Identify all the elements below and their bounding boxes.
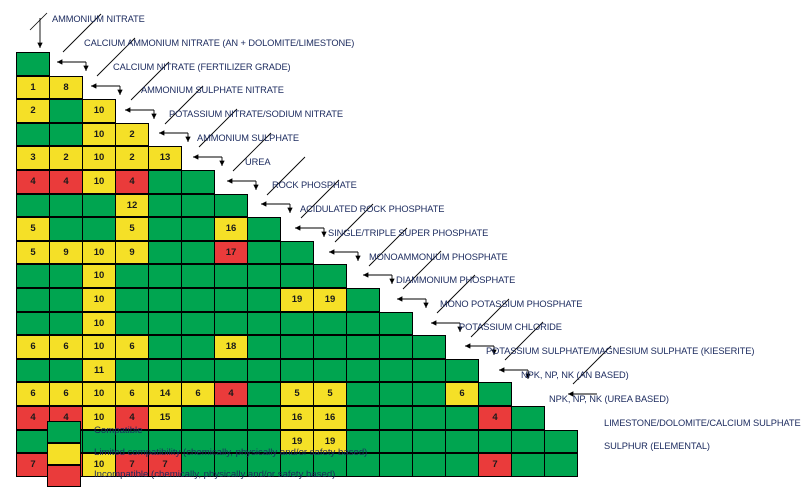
matrix-cell[interactable]: 16 <box>280 406 314 430</box>
matrix-cell[interactable]: 16 <box>214 217 248 241</box>
matrix-cell[interactable] <box>346 335 380 359</box>
matrix-cell[interactable] <box>181 288 215 312</box>
row-label: SULPHUR (ELEMENTAL) <box>604 441 710 451</box>
matrix-cell[interactable] <box>49 264 83 288</box>
matrix-cell[interactable] <box>379 312 413 336</box>
matrix-cell[interactable] <box>379 382 413 406</box>
matrix-cell[interactable] <box>148 241 182 265</box>
matrix-cell[interactable] <box>544 430 578 454</box>
matrix-cell[interactable]: 6 <box>16 382 50 406</box>
matrix-cell[interactable]: 8 <box>49 76 83 100</box>
matrix-cell[interactable] <box>346 382 380 406</box>
matrix-cell[interactable] <box>214 194 248 218</box>
matrix-cell[interactable] <box>412 453 446 477</box>
matrix-cell[interactable]: 19 <box>313 288 347 312</box>
matrix-cell[interactable] <box>379 430 413 454</box>
matrix-cell[interactable]: 6 <box>49 335 83 359</box>
matrix-cell[interactable] <box>82 217 116 241</box>
matrix-cell[interactable]: 2 <box>115 123 149 147</box>
matrix-cell[interactable] <box>181 241 215 265</box>
matrix-cell[interactable] <box>115 359 149 383</box>
matrix-cell[interactable] <box>16 194 50 218</box>
matrix-cell[interactable]: 10 <box>82 170 116 194</box>
matrix-cell[interactable]: 10 <box>82 123 116 147</box>
matrix-cell[interactable] <box>16 312 50 336</box>
matrix-cell[interactable] <box>148 359 182 383</box>
matrix-cell[interactable] <box>247 288 281 312</box>
matrix-cell[interactable] <box>49 123 83 147</box>
legend-swatch <box>47 421 81 443</box>
matrix-cell[interactable]: 10 <box>82 146 116 170</box>
matrix-cell[interactable] <box>16 430 50 454</box>
matrix-cell[interactable] <box>478 430 512 454</box>
matrix-cell[interactable] <box>445 406 479 430</box>
matrix-cell[interactable] <box>16 123 50 147</box>
matrix-cell[interactable]: 4 <box>16 170 50 194</box>
matrix-cell[interactable] <box>247 406 281 430</box>
matrix-row: 12 <box>17 195 248 219</box>
matrix-cell[interactable] <box>49 99 83 123</box>
matrix-cell[interactable] <box>247 335 281 359</box>
matrix-cell[interactable] <box>16 288 50 312</box>
matrix-row: 18 <box>17 77 83 101</box>
row-label: AMMONIUM SULPHATE <box>197 133 299 143</box>
matrix-cell[interactable] <box>313 335 347 359</box>
matrix-cell[interactable] <box>148 217 182 241</box>
matrix-cell[interactable] <box>16 264 50 288</box>
row-label: POTASSIUM CHLORIDE <box>459 322 562 332</box>
row-label: POTASSIUM NITRATE/SODIUM NITRATE <box>169 109 343 119</box>
matrix-cell[interactable]: 6 <box>181 382 215 406</box>
matrix-cell[interactable] <box>16 52 50 76</box>
matrix-cell[interactable] <box>544 453 578 477</box>
matrix-cell[interactable] <box>445 430 479 454</box>
matrix-cell[interactable] <box>148 264 182 288</box>
matrix-cell[interactable] <box>181 264 215 288</box>
matrix-cell[interactable] <box>379 406 413 430</box>
matrix-row: 5516 <box>17 218 281 242</box>
matrix-cell[interactable] <box>511 406 545 430</box>
matrix-cell[interactable]: 5 <box>115 217 149 241</box>
matrix-cell[interactable] <box>313 312 347 336</box>
matrix-cell[interactable] <box>478 382 512 406</box>
matrix-cell[interactable] <box>181 170 215 194</box>
matrix-cell[interactable] <box>280 241 314 265</box>
matrix-cell[interactable]: 5 <box>16 217 50 241</box>
matrix-cell[interactable] <box>412 406 446 430</box>
matrix-cell[interactable] <box>181 312 215 336</box>
matrix-cell[interactable] <box>115 312 149 336</box>
matrix-cell[interactable] <box>49 194 83 218</box>
matrix-cell[interactable] <box>49 288 83 312</box>
matrix-cell[interactable]: 18 <box>214 335 248 359</box>
matrix-cell[interactable] <box>181 194 215 218</box>
matrix-cell[interactable]: 13 <box>148 146 182 170</box>
matrix-cell[interactable] <box>247 382 281 406</box>
matrix-cell[interactable] <box>280 312 314 336</box>
matrix-row: 10 <box>17 313 413 337</box>
matrix-cell[interactable]: 5 <box>280 382 314 406</box>
matrix-cell[interactable]: 4 <box>214 382 248 406</box>
matrix-cell[interactable]: 5 <box>313 382 347 406</box>
matrix-cell[interactable] <box>511 430 545 454</box>
matrix-cell[interactable]: 10 <box>82 99 116 123</box>
matrix-cell[interactable] <box>148 194 182 218</box>
legend-swatch <box>47 465 81 487</box>
matrix-cell[interactable] <box>346 359 380 383</box>
legend-label: Incompatible (chemically, physically and… <box>94 469 335 480</box>
matrix-cell[interactable]: 7 <box>16 453 50 477</box>
row-label: MONO POTASSIUM PHOSPHATE <box>440 299 582 309</box>
matrix-cell[interactable]: 12 <box>115 194 149 218</box>
matrix-row: 102 <box>17 124 149 148</box>
matrix-cell[interactable] <box>247 359 281 383</box>
matrix-row: 661061464556 <box>17 383 512 407</box>
matrix-cell[interactable]: 4 <box>49 170 83 194</box>
row-label: ROCK PHOSPHATE <box>272 180 357 190</box>
matrix-cell[interactable] <box>445 453 479 477</box>
matrix-cell[interactable] <box>82 194 116 218</box>
matrix-cell[interactable]: 10 <box>82 288 116 312</box>
matrix-cell[interactable]: 17 <box>214 241 248 265</box>
legend-label: Limited compatibility (chemically, physi… <box>94 447 367 458</box>
matrix-cell[interactable] <box>214 264 248 288</box>
matrix-cell[interactable] <box>313 359 347 383</box>
matrix-cell[interactable]: 7 <box>478 453 512 477</box>
matrix-cell[interactable]: 2 <box>49 146 83 170</box>
matrix-cell[interactable] <box>49 217 83 241</box>
matrix-cell[interactable] <box>379 359 413 383</box>
legend-swatch <box>47 443 81 465</box>
matrix-cell[interactable]: 9 <box>49 241 83 265</box>
matrix-cell[interactable] <box>181 335 215 359</box>
matrix-cell[interactable]: 19 <box>280 288 314 312</box>
matrix-cell[interactable] <box>181 217 215 241</box>
matrix-cell[interactable] <box>379 453 413 477</box>
matrix-row: 10 <box>17 265 347 289</box>
matrix-cell[interactable] <box>115 264 149 288</box>
matrix-cell[interactable] <box>280 335 314 359</box>
matrix-cell[interactable]: 16 <box>313 406 347 430</box>
matrix-cell[interactable] <box>214 312 248 336</box>
matrix-cell[interactable]: 3 <box>16 146 50 170</box>
matrix-cell[interactable]: 2 <box>16 99 50 123</box>
matrix-cell[interactable]: 10 <box>82 241 116 265</box>
row-label: NPK, NP, NK (UREA BASED) <box>549 394 669 404</box>
matrix-row: 6610618 <box>17 336 446 360</box>
matrix-cell[interactable] <box>214 406 248 430</box>
matrix-cell[interactable] <box>412 335 446 359</box>
matrix-cell[interactable]: 5 <box>16 241 50 265</box>
matrix-cell[interactable] <box>412 359 446 383</box>
matrix-cell[interactable]: 10 <box>82 264 116 288</box>
matrix-cell[interactable]: 4 <box>115 170 149 194</box>
row-label: SINGLE/TRIPLE SUPER PHOSPHATE <box>328 228 488 238</box>
legend-label: Compatible <box>94 425 143 436</box>
matrix-cell[interactable] <box>346 406 380 430</box>
row-label: UREA <box>245 157 270 167</box>
matrix-cell[interactable] <box>412 430 446 454</box>
matrix-cell[interactable] <box>148 335 182 359</box>
matrix-cell[interactable] <box>214 288 248 312</box>
matrix-cell[interactable] <box>280 359 314 383</box>
matrix-cell[interactable] <box>247 217 281 241</box>
matrix-cell[interactable] <box>181 406 215 430</box>
matrix-cell[interactable] <box>247 264 281 288</box>
row-label: DIAMMONIUM PHOSPHATE <box>396 275 515 285</box>
matrix-row: 101919 <box>17 289 380 313</box>
matrix-row: 44104 <box>17 171 215 195</box>
matrix-cell[interactable] <box>247 312 281 336</box>
matrix-cell[interactable] <box>247 241 281 265</box>
matrix-row <box>17 53 50 77</box>
matrix-cell[interactable]: 4 <box>478 406 512 430</box>
matrix-cell[interactable]: 14 <box>148 382 182 406</box>
row-label: CALCIUM NITRATE (FERTILIZER GRADE) <box>113 62 291 72</box>
matrix-cell[interactable] <box>346 288 380 312</box>
matrix-cell[interactable]: 2 <box>115 146 149 170</box>
row-label: LIMESTONE/DOLOMITE/CALCIUM SULPHATE <box>604 418 801 428</box>
matrix-row: 11 <box>17 360 479 384</box>
matrix-cell[interactable] <box>280 264 314 288</box>
matrix-cell[interactable] <box>379 335 413 359</box>
matrix-cell[interactable] <box>346 312 380 336</box>
matrix-cell[interactable] <box>313 264 347 288</box>
row-label: POTASSIUM SULPHATE/MAGNESIUM SULPHATE (K… <box>486 346 754 356</box>
matrix-cell[interactable]: 6 <box>16 335 50 359</box>
matrix-cell[interactable] <box>412 382 446 406</box>
matrix-cell[interactable] <box>148 312 182 336</box>
matrix-cell[interactable]: 11 <box>82 359 116 383</box>
matrix-cell[interactable] <box>181 359 215 383</box>
row-label: ACIDULATED ROCK PHOSPHATE <box>300 204 444 214</box>
matrix-row: 3210213 <box>17 147 182 171</box>
matrix-cell[interactable] <box>148 288 182 312</box>
matrix-cell[interactable]: 10 <box>82 335 116 359</box>
matrix-cell[interactable] <box>49 359 83 383</box>
matrix-cell[interactable]: 6 <box>115 335 149 359</box>
compatibility-chart: 1821010232102134410412551659109171010191… <box>0 0 803 498</box>
matrix-cell[interactable]: 10 <box>82 382 116 406</box>
matrix-cell[interactable]: 10 <box>82 312 116 336</box>
matrix-cell[interactable] <box>16 359 50 383</box>
row-label: NPK, NP, NK (AN BASED) <box>521 370 629 380</box>
row-label: CALCIUM AMMONIUM NITRATE (AN + DOLOMITE/… <box>84 38 354 48</box>
matrix-cell[interactable]: 15 <box>148 406 182 430</box>
matrix-row: 5910917 <box>17 242 314 266</box>
matrix-cell[interactable]: 1 <box>16 76 50 100</box>
matrix-cell[interactable] <box>115 288 149 312</box>
row-label: AMMONIUM SULPHATE NITRATE <box>141 85 284 95</box>
matrix-row: 210 <box>17 100 116 124</box>
matrix-cell[interactable] <box>445 359 479 383</box>
matrix-cell[interactable]: 6 <box>115 382 149 406</box>
matrix-cell[interactable] <box>49 312 83 336</box>
matrix-cell[interactable] <box>511 453 545 477</box>
matrix-cell[interactable]: 4 <box>16 406 50 430</box>
matrix-cell[interactable]: 6 <box>49 382 83 406</box>
matrix-cell[interactable] <box>148 170 182 194</box>
matrix-cell[interactable] <box>214 359 248 383</box>
matrix-cell[interactable]: 6 <box>445 382 479 406</box>
row-label: MONOAMMONIUM PHOSPHATE <box>369 252 508 262</box>
row-label: AMMONIUM NITRATE <box>52 14 145 24</box>
matrix-cell[interactable]: 9 <box>115 241 149 265</box>
